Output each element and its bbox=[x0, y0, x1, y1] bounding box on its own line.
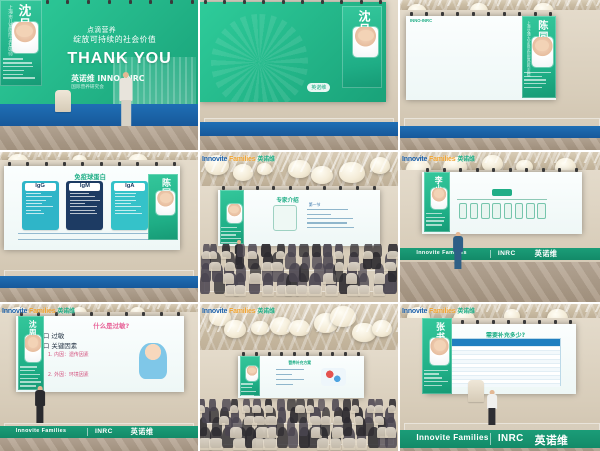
speaker-bio-bullets bbox=[424, 370, 450, 389]
audience-chair bbox=[249, 273, 262, 284]
speaker-headshot bbox=[227, 204, 242, 223]
audience-chair bbox=[219, 416, 229, 425]
audience-chair bbox=[335, 262, 345, 271]
speaker-bio-bullets bbox=[426, 213, 449, 228]
speaker-headshot bbox=[246, 366, 258, 380]
watermark-innovite: Innovite bbox=[402, 308, 427, 315]
audience-chair bbox=[334, 251, 343, 259]
audience-chair bbox=[276, 251, 285, 259]
audience-chair bbox=[306, 405, 314, 413]
speaker-headshot bbox=[353, 27, 378, 57]
speaker-legs bbox=[454, 251, 461, 269]
audience-chair bbox=[385, 427, 396, 437]
slide-subline-2: 绽放可持续的社会价值 bbox=[73, 34, 156, 45]
stage-light-bar bbox=[222, 186, 376, 190]
venue-carpet bbox=[0, 437, 198, 451]
apron-brand-text: INRC bbox=[95, 428, 113, 435]
watermark-families: Families bbox=[227, 156, 255, 163]
audience-chair bbox=[230, 405, 238, 413]
audience-chair bbox=[363, 251, 373, 259]
collage-photo-9: 需要补充多少?张书芳Innovite FamiliesINRC英诺维Innovi… bbox=[400, 304, 600, 451]
table-row bbox=[442, 383, 560, 387]
venue-carpet bbox=[400, 262, 600, 302]
watermark-innovite: Innovite bbox=[202, 156, 227, 163]
audience-member bbox=[209, 399, 216, 411]
watermark-families: Families bbox=[427, 156, 455, 163]
stage-floor bbox=[200, 122, 398, 136]
speaker-headshot bbox=[12, 22, 38, 53]
slide-title: 营养补充方案 bbox=[288, 360, 311, 366]
audience-chair bbox=[321, 416, 331, 425]
watermark-families: Families bbox=[227, 308, 255, 315]
audience-chair bbox=[342, 438, 356, 449]
audience-chair bbox=[388, 405, 396, 413]
audience-member bbox=[277, 399, 284, 411]
slide-subline-1: 点滴营养 bbox=[87, 24, 116, 34]
watermark-innovite: Innovite bbox=[202, 308, 227, 315]
audience-chair bbox=[209, 251, 218, 259]
speaker-headshot bbox=[25, 335, 41, 362]
flow-leaf-node bbox=[459, 203, 467, 219]
speaker-poster: 张书芳 bbox=[422, 318, 452, 394]
watermark-cn: 英诺维 bbox=[457, 156, 474, 163]
allergy-item-1: 1. 内因：遗传因素 bbox=[48, 351, 89, 358]
speaker-poster bbox=[240, 356, 260, 396]
speaker-poster bbox=[220, 190, 244, 244]
stage-floor bbox=[0, 104, 198, 126]
speaker-torso bbox=[35, 390, 45, 406]
audience-chair bbox=[295, 405, 305, 413]
watermark-families: Families bbox=[27, 308, 55, 315]
card-label: IgA bbox=[114, 183, 145, 191]
audience-chair bbox=[225, 262, 235, 271]
ceiling-truss bbox=[0, 152, 198, 157]
audience-chair bbox=[374, 405, 384, 413]
collage-photo-6: 李小芹Innovite FamiliesINRC英诺维Innovite Fami… bbox=[400, 152, 600, 302]
watermark-logo: Innovite Families英诺维 bbox=[402, 154, 475, 163]
collage-photo-5: 专家介绍第一节Innovite Families英诺维 bbox=[200, 152, 398, 302]
collage-photo-3: INNO-INRC陈同辛上海交通大学医学院附属新华医院 bbox=[400, 0, 600, 150]
slide-bullet-line bbox=[276, 384, 294, 385]
immunoglobulin-card: IgG bbox=[22, 181, 59, 230]
slide-footnote bbox=[18, 239, 155, 240]
audience-chair bbox=[263, 438, 277, 449]
watermark-logo: Innovite Families英诺维 bbox=[402, 306, 475, 315]
immunoglobulin-card: IgA bbox=[111, 181, 148, 230]
slide-badge: 英诺维 bbox=[307, 83, 330, 92]
collage-photo-2: 英诺维沈月华 bbox=[200, 0, 398, 150]
speaker-headshot bbox=[532, 37, 553, 67]
speaker-bio-bullets bbox=[3, 58, 40, 81]
audience-member bbox=[312, 244, 321, 257]
audience-member bbox=[350, 244, 359, 257]
dosage-table bbox=[441, 338, 561, 386]
collage-photo-1: 点滴营养绽放可持续的社会价值THANK YOU英诺维 INNO-INRC国际营养… bbox=[0, 0, 198, 150]
expert-bio-line bbox=[307, 227, 354, 228]
collage-photo-4: 免疫球蛋白IgGIgMIgA陈同辛 bbox=[0, 152, 198, 302]
stage-speaker bbox=[118, 72, 134, 122]
watermark-logo: Innovite Families英诺维 bbox=[202, 306, 275, 315]
watermark-logo: Innovite Families英诺维 bbox=[2, 306, 75, 315]
audience-chair bbox=[296, 285, 308, 297]
slide-subtitle: 第一节 bbox=[309, 202, 321, 208]
ceiling-truss bbox=[400, 0, 600, 6]
audience-area bbox=[200, 399, 398, 451]
audience-chair bbox=[209, 438, 223, 449]
audience-member bbox=[299, 244, 309, 257]
slide-footnote bbox=[18, 233, 155, 234]
audience-member bbox=[318, 399, 325, 411]
product-illustration bbox=[321, 368, 346, 386]
audience-chair bbox=[223, 273, 234, 284]
audience-chair bbox=[209, 262, 221, 271]
audience-chair bbox=[330, 438, 340, 449]
audience-chair bbox=[384, 262, 397, 271]
audience-chair bbox=[387, 251, 398, 259]
venue-carpet bbox=[200, 136, 398, 150]
allergy-illustration bbox=[139, 343, 168, 379]
audience-chair bbox=[354, 416, 363, 425]
flow-leaf-node bbox=[492, 203, 500, 219]
speaker-headshot bbox=[430, 338, 449, 365]
slide-bullet-line bbox=[276, 369, 304, 370]
apron-brand-text: INRC bbox=[498, 433, 524, 444]
table-header-row bbox=[442, 339, 560, 346]
slide-bullet-line bbox=[276, 379, 304, 380]
audience-chair bbox=[325, 285, 338, 297]
flow-leaf-node bbox=[470, 203, 478, 219]
audience-member bbox=[288, 244, 296, 257]
speaker-bio-bullets bbox=[241, 383, 259, 396]
watermark-families: Families bbox=[427, 308, 455, 315]
watermark-innovite: Innovite bbox=[2, 308, 27, 315]
allergy-line-2: 口 关键因素 bbox=[43, 341, 77, 350]
audience-chair bbox=[374, 416, 383, 425]
screen-globe-art bbox=[211, 14, 308, 102]
expert-bio-line bbox=[307, 209, 348, 210]
collage-photo-7: 什么是过敏?口 过敏口 关键因素1. 内因：遗传因素2. 外因：环境因素沈周波I… bbox=[0, 304, 198, 451]
flow-leaf-node bbox=[504, 203, 512, 219]
flow-leaf-node bbox=[537, 203, 545, 219]
audience-chair bbox=[252, 405, 260, 413]
flow-leaf-node bbox=[526, 203, 534, 219]
allergy-item-2: 2. 外因：环境因素 bbox=[48, 371, 89, 378]
flow-connector bbox=[457, 199, 547, 200]
stage-apron-banner: Innovite FamiliesINRC英诺维 bbox=[400, 248, 600, 260]
watermark-innovite: Innovite bbox=[402, 156, 427, 163]
slide-title: 免疫球蛋白 bbox=[74, 172, 105, 181]
audience-chair bbox=[374, 273, 385, 284]
apron-brand-text: INRC bbox=[498, 250, 516, 257]
stage-light-bar bbox=[204, 0, 382, 4]
apron-cn-text: 英诺维 bbox=[131, 427, 154, 437]
speaker-headshot bbox=[431, 188, 447, 210]
expert-headshot bbox=[273, 205, 297, 232]
slide-title: 专家介绍 bbox=[276, 196, 298, 204]
speaker-poster: 沈月华 bbox=[342, 6, 382, 88]
speaker-legs bbox=[36, 405, 43, 423]
card-label: IgM bbox=[69, 183, 100, 191]
speaker-torso bbox=[119, 78, 132, 101]
stage-speaker bbox=[486, 390, 498, 422]
audience-member bbox=[343, 399, 351, 411]
venue-carpet bbox=[0, 288, 198, 302]
slide-title: 什么是过敏? bbox=[93, 321, 129, 330]
expert-bio-line bbox=[307, 218, 352, 219]
audience-member bbox=[261, 244, 271, 257]
stage-chair bbox=[468, 380, 484, 402]
audience-chair bbox=[253, 416, 265, 425]
apron-left-text: Innovite Families bbox=[416, 433, 488, 442]
stage-speaker bbox=[34, 386, 46, 420]
audience-chair bbox=[317, 438, 329, 449]
audience-chair bbox=[230, 427, 242, 437]
watermark-cn: 英诺维 bbox=[457, 308, 474, 315]
stage-chair bbox=[55, 90, 71, 112]
slide-brand-tag: INNO-INRC bbox=[410, 18, 432, 23]
speaker-poster: 陈同辛 bbox=[148, 174, 178, 240]
venue-carpet bbox=[0, 126, 198, 150]
speaker-torso bbox=[487, 394, 497, 409]
speaker-poster: 陈同辛上海交通大学医学院附属新华医院 bbox=[522, 16, 556, 98]
audience-chair bbox=[348, 262, 359, 271]
audience-member bbox=[323, 244, 332, 257]
flow-leaf-node bbox=[515, 203, 523, 219]
audience-chair bbox=[358, 285, 370, 297]
audience-area bbox=[200, 244, 398, 302]
speaker-headshot bbox=[156, 191, 175, 215]
expert-bio-line bbox=[307, 214, 331, 215]
audience-chair bbox=[242, 405, 250, 413]
audience-chair bbox=[200, 405, 205, 413]
immunoglobulin-card: IgM bbox=[66, 181, 103, 230]
slide-bullet-line bbox=[276, 374, 292, 375]
stage-speaker bbox=[452, 232, 464, 266]
watermark-cn: 英诺维 bbox=[257, 156, 274, 163]
speaker-torso bbox=[453, 236, 463, 252]
apron-left-text: Innovite Families bbox=[16, 428, 67, 434]
flow-leaf-node bbox=[481, 203, 489, 219]
watermark-cn: 英诺维 bbox=[57, 308, 74, 315]
allergy-line-1: 口 过敏 bbox=[43, 331, 64, 340]
slide-headline: THANK YOU bbox=[67, 49, 171, 68]
audience-member bbox=[237, 244, 245, 257]
audience-chair bbox=[271, 262, 284, 271]
audience-member bbox=[373, 244, 382, 257]
audience-chair bbox=[332, 427, 344, 437]
stage-light-bar bbox=[8, 162, 176, 166]
collage-photo-8: 营养补充方案Innovite Families英诺维 bbox=[200, 304, 398, 451]
speaker-poster: 沈周波 bbox=[18, 316, 44, 390]
speaker-bio-bullets bbox=[524, 72, 554, 91]
photo-collage: 点滴营养绽放可持续的社会价值THANK YOU英诺维 INNO-INRC国际营养… bbox=[0, 0, 600, 451]
audience-chair bbox=[308, 285, 321, 297]
audience-chair bbox=[346, 273, 358, 284]
watermark-cn: 英诺维 bbox=[257, 308, 274, 315]
audience-chair bbox=[309, 416, 321, 425]
expert-bio-line bbox=[307, 222, 347, 223]
stage-floor bbox=[400, 126, 600, 138]
venue-carpet bbox=[400, 138, 600, 150]
watermark-logo: Innovite Families英诺维 bbox=[202, 154, 275, 163]
audience-chair bbox=[351, 405, 359, 413]
audience-chair bbox=[356, 438, 367, 449]
stage-floor bbox=[0, 276, 198, 288]
card-label: IgG bbox=[25, 183, 56, 191]
stage-apron-banner: Innovite FamiliesINRC英诺维 bbox=[0, 426, 198, 438]
audience-chair bbox=[262, 285, 274, 297]
audience-chair bbox=[221, 251, 230, 259]
speaker-poster: 李小芹 bbox=[424, 172, 450, 232]
speaker-legs bbox=[121, 100, 131, 126]
audience-chair bbox=[265, 416, 276, 425]
apron-cn-text: 英诺维 bbox=[535, 249, 558, 259]
audience-chair bbox=[247, 251, 257, 259]
audience-chair bbox=[264, 405, 272, 413]
flow-root-node bbox=[492, 189, 511, 195]
stage-apron-banner: Innovite FamiliesINRC英诺维 bbox=[400, 430, 600, 448]
audience-chair bbox=[234, 285, 246, 297]
speaker-poster: 沈月华上海市儿童医院主任医师 bbox=[0, 0, 42, 86]
speaker-legs bbox=[488, 408, 495, 425]
apron-cn-text: 英诺维 bbox=[535, 432, 569, 448]
audience-member bbox=[332, 399, 339, 411]
